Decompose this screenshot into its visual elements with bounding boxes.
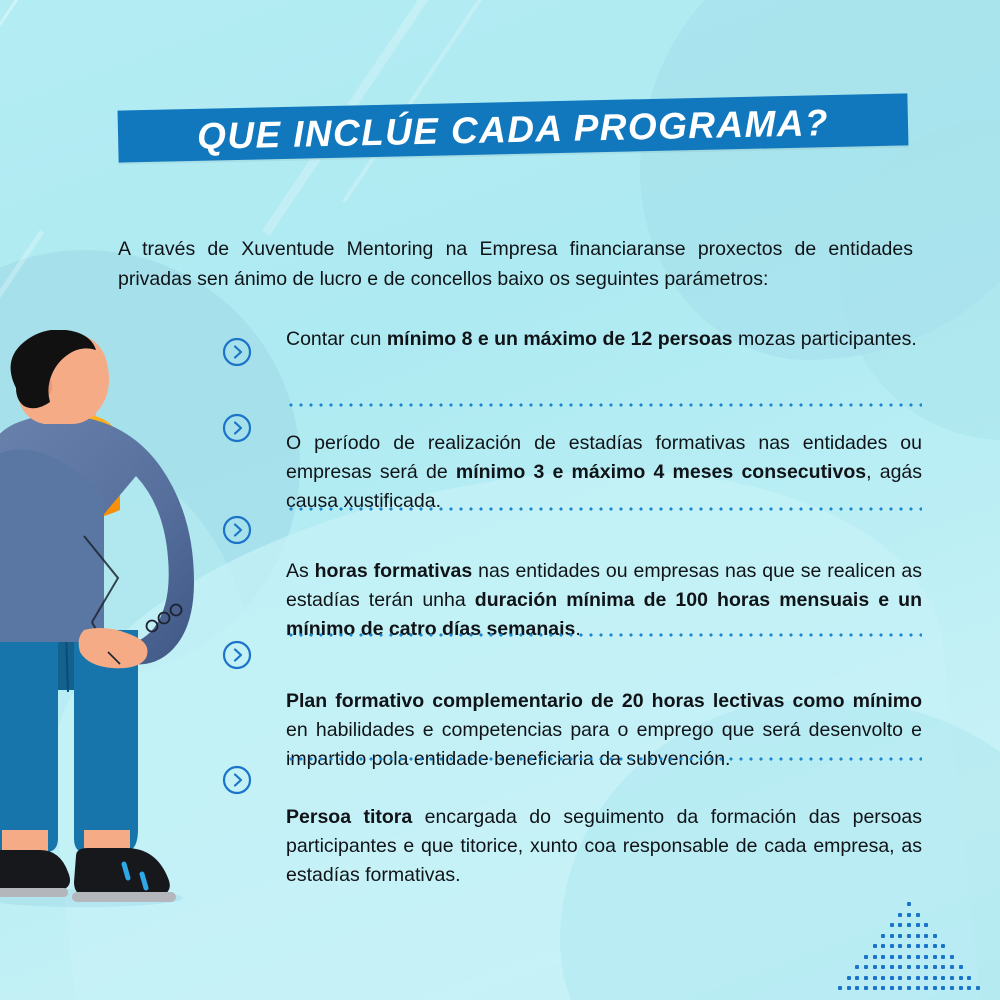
- pattern-dot: [950, 976, 954, 980]
- pattern-dot: [907, 913, 911, 917]
- pattern-dot: [941, 986, 945, 990]
- pattern-dot: [933, 944, 937, 948]
- pattern-dot: [873, 976, 877, 980]
- intro-paragraph: A través de Xuventude Mentoring na Empre…: [118, 234, 913, 294]
- pattern-dot: [881, 955, 885, 959]
- pattern-dot: [933, 955, 937, 959]
- pattern-dot: [898, 913, 902, 917]
- pattern-dot: [967, 986, 971, 990]
- pattern-dot: [924, 944, 928, 948]
- pattern-dot: [933, 986, 937, 990]
- pattern-dot: [941, 976, 945, 980]
- pattern-dot: [898, 934, 902, 938]
- list-item-text: Contar cun mínimo 8 e un máximo de 12 pe…: [286, 325, 922, 354]
- pattern-dot: [890, 944, 894, 948]
- poster-canvas: QUE INCLÚE CADA PROGRAMA? A través de Xu…: [0, 0, 1000, 1000]
- pattern-dot: [847, 976, 851, 980]
- pattern-dot: [873, 944, 877, 948]
- chevron-right-circle-icon: [222, 640, 252, 670]
- pattern-dot: [933, 934, 937, 938]
- chevron-right-circle-icon: [222, 765, 252, 795]
- list-item: O período de realización de estadías for…: [222, 429, 922, 516]
- pattern-dot: [950, 965, 954, 969]
- list-item: Contar cun mínimo 8 e un máximo de 12 pe…: [222, 325, 922, 354]
- chevron-right-circle-icon: [222, 515, 252, 545]
- pattern-dot: [898, 986, 902, 990]
- pattern-dot: [864, 965, 868, 969]
- pattern-dot: [838, 986, 842, 990]
- list-divider: [286, 633, 922, 637]
- pattern-dot: [916, 913, 920, 917]
- pattern-dot: [950, 955, 954, 959]
- pattern-dot: [916, 955, 920, 959]
- pattern-dot: [916, 976, 920, 980]
- pattern-dot: [924, 965, 928, 969]
- pattern-dot: [924, 923, 928, 927]
- pattern-dot: [855, 976, 859, 980]
- pattern-dot: [950, 986, 954, 990]
- pattern-dot: [959, 986, 963, 990]
- pattern-dot: [941, 944, 945, 948]
- pattern-dot: [933, 976, 937, 980]
- pattern-dot: [916, 944, 920, 948]
- pattern-dot: [941, 965, 945, 969]
- pattern-dot: [916, 965, 920, 969]
- pattern-dot: [898, 923, 902, 927]
- pattern-dot: [924, 955, 928, 959]
- pattern-dot: [855, 965, 859, 969]
- pattern-dot: [898, 944, 902, 948]
- pattern-dot: [881, 986, 885, 990]
- pattern-dot: [916, 986, 920, 990]
- pattern-dot: [873, 955, 877, 959]
- pattern-dot: [890, 934, 894, 938]
- pattern-dot: [907, 934, 911, 938]
- pattern-dot: [941, 955, 945, 959]
- pattern-dot: [847, 986, 851, 990]
- pattern-dot: [873, 965, 877, 969]
- pattern-dot: [890, 965, 894, 969]
- pattern-dot: [976, 986, 980, 990]
- chevron-right-circle-icon: [222, 413, 252, 443]
- pattern-dot: [907, 986, 911, 990]
- pattern-dot: [959, 976, 963, 980]
- pattern-dot: [864, 955, 868, 959]
- dot-triangle-pattern: [832, 902, 982, 994]
- list-item-text: O período de realización de estadías for…: [286, 429, 922, 516]
- pattern-dot: [881, 944, 885, 948]
- chevron-right-circle-icon: [222, 337, 252, 367]
- pattern-dot: [890, 955, 894, 959]
- pattern-dot: [924, 934, 928, 938]
- pattern-dot: [916, 923, 920, 927]
- list-item: As horas formativas nas entidades ou emp…: [222, 557, 922, 644]
- list-divider: [286, 403, 922, 407]
- pattern-dot: [873, 986, 877, 990]
- pattern-dot: [890, 923, 894, 927]
- pattern-dot: [907, 976, 911, 980]
- pattern-dot: [924, 976, 928, 980]
- pattern-dot: [967, 976, 971, 980]
- pattern-dot: [907, 965, 911, 969]
- standing-person-illustration: [0, 330, 218, 930]
- list-item: Persoa titora encargada do seguimento da…: [222, 803, 922, 890]
- pattern-dot: [907, 944, 911, 948]
- list-item-text: Persoa titora encargada do seguimento da…: [286, 803, 922, 890]
- pattern-dot: [881, 976, 885, 980]
- list-item-text: As horas formativas nas entidades ou emp…: [286, 557, 922, 644]
- pattern-dot: [864, 986, 868, 990]
- pattern-dot: [959, 965, 963, 969]
- pattern-dot: [881, 965, 885, 969]
- pattern-dot: [855, 986, 859, 990]
- pattern-dot: [898, 976, 902, 980]
- pattern-dot: [890, 986, 894, 990]
- pattern-dot: [864, 976, 868, 980]
- list-divider: [286, 507, 922, 511]
- pattern-dot: [898, 965, 902, 969]
- pattern-dot: [907, 923, 911, 927]
- pattern-dot: [924, 986, 928, 990]
- list-divider: [286, 757, 922, 761]
- pattern-dot: [898, 955, 902, 959]
- pattern-dot: [907, 902, 911, 906]
- pattern-dot: [890, 976, 894, 980]
- pattern-dot: [881, 934, 885, 938]
- pattern-dot: [933, 965, 937, 969]
- pattern-dot: [907, 955, 911, 959]
- pattern-dot: [916, 934, 920, 938]
